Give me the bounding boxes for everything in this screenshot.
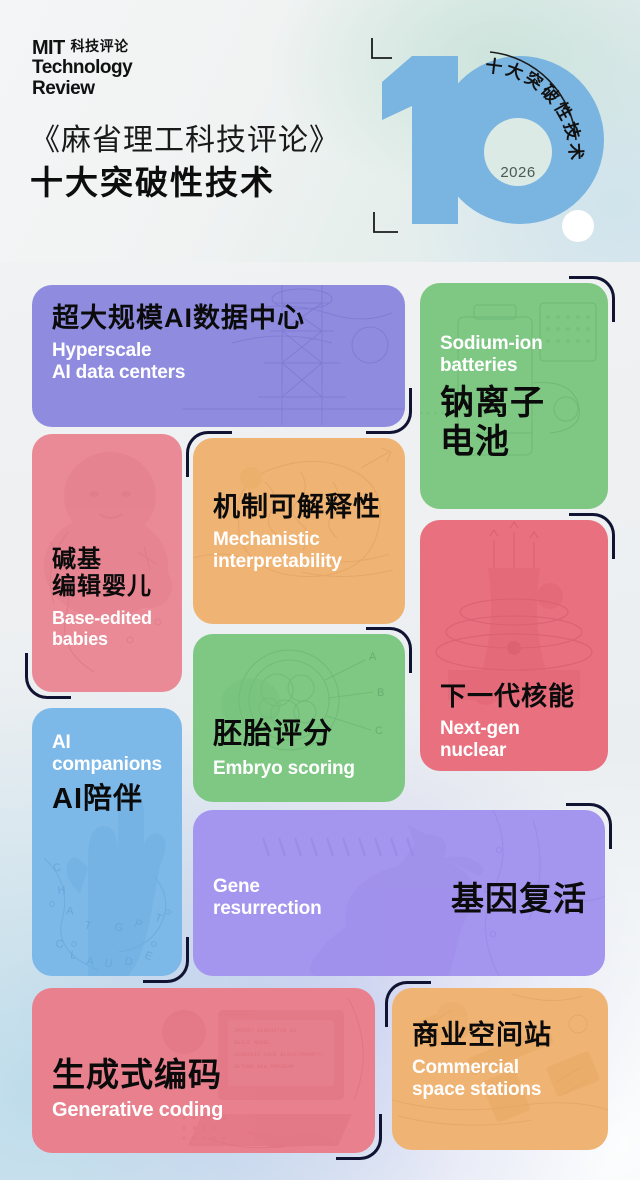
svg-text:IMPORT GENERATOR_AI: IMPORT GENERATOR_AI [234, 1027, 297, 1034]
logo-review-text: Review [32, 79, 132, 100]
card-title-en: Next-gen nuclear [440, 718, 594, 763]
embryo-label-a: A [369, 651, 377, 663]
svg-text:A: A [66, 905, 75, 918]
card-title-cn: 机制可解释性 [213, 492, 391, 523]
card-gene-resurrection[interactable]: Gene resurrection 基因复活 [193, 810, 605, 976]
embryo-label-b: B [377, 687, 384, 699]
poster-root: MIT 科技评论 Technology Review 《麻省理工科技评论》 十大… [0, 0, 640, 1180]
svg-text:H: H [57, 884, 66, 897]
svg-text:C: C [52, 861, 63, 875]
card-title-cn: 下一代核能 [440, 682, 594, 712]
mit-technology-review-logo: MIT 科技评论 Technology Review [32, 38, 132, 99]
svg-text:L: L [70, 949, 77, 962]
card-mechanistic-interpretability[interactable]: 机制可解释性 Mechanistic interpretability [193, 438, 405, 624]
card-title-cn: AI陪伴 [52, 783, 168, 816]
ten-breakthrough-mark: 十大突破性技术 2026 [370, 34, 620, 254]
card-title-cn: 碱基 编辑婴儿 [52, 546, 168, 601]
logo-mit-text: MIT [32, 38, 65, 58]
card-title-cn: 钠离子 电池 [440, 384, 594, 462]
card-title-cn: 胚胎评分 [213, 718, 391, 751]
card-generative-coding[interactable]: IMPORT GENERATOR_AI BUILD MODEL GENERATE… [32, 988, 375, 1153]
card-ai-companions[interactable]: C H A T G P T C L A U D E [32, 708, 182, 976]
card-hyperscale-ai-data-centers[interactable]: 超大规模AI数据中心 Hyperscale AI data centers [32, 285, 405, 427]
card-title-en: Gene resurrection [213, 876, 321, 921]
card-title-en: AI companions [52, 732, 168, 777]
svg-text:E: E [143, 949, 154, 963]
card-title-en: Generative coding [52, 1099, 361, 1123]
card-title-en: Sodium-ion batteries [440, 333, 594, 378]
logo-chinese-text: 科技评论 [71, 38, 129, 56]
card-title-cn: 基因复活 [451, 880, 587, 918]
card-title-en: Commercial space stations [412, 1057, 594, 1102]
card-title-cn: 商业空间站 [412, 1020, 594, 1051]
card-base-edited-babies[interactable]: 碱基 编辑婴儿 Base-edited babies [32, 434, 182, 692]
card-title-en: Embryo scoring [213, 758, 391, 780]
svg-text:C: C [55, 938, 64, 951]
card-embryo-scoring[interactable]: A B C 胚胎评分 Embryo scoring [193, 634, 405, 802]
card-title-cn: 生成式编码 [52, 1056, 361, 1094]
svg-text:BUILD MODEL: BUILD MODEL [234, 1039, 270, 1046]
logo-technology-text: Technology [32, 58, 132, 79]
card-title-en: Hyperscale AI data centers [52, 340, 391, 385]
card-next-gen-nuclear[interactable]: 下一代核能 Next-gen nuclear [420, 520, 608, 771]
title-publication-name: 《麻省理工科技评论》 [30, 122, 340, 160]
card-title-cn: 超大规模AI数据中心 [52, 303, 391, 334]
mark-year-label: 2026 [488, 164, 548, 181]
poster-header: MIT 科技评论 Technology Review 《麻省理工科技评论》 十大… [0, 0, 640, 262]
card-title-en: Base-edited babies [52, 608, 168, 650]
card-sodium-ion-batteries[interactable]: Sodium-ion batteries 钠离子 电池 [420, 283, 608, 509]
mark-accent-dot [562, 210, 594, 242]
svg-text:T: T [153, 912, 164, 926]
breakthrough-cards-grid: 超大规模AI数据中心 Hyperscale AI data centers [0, 262, 640, 1180]
title-main-headline: 十大突破性技术 [30, 162, 340, 205]
card-title-en: Mechanistic interpretability [213, 529, 391, 574]
page-title: 《麻省理工科技评论》 十大突破性技术 [30, 122, 340, 205]
card-commercial-space-stations[interactable]: 商业空间站 Commercial space stations [392, 988, 608, 1150]
